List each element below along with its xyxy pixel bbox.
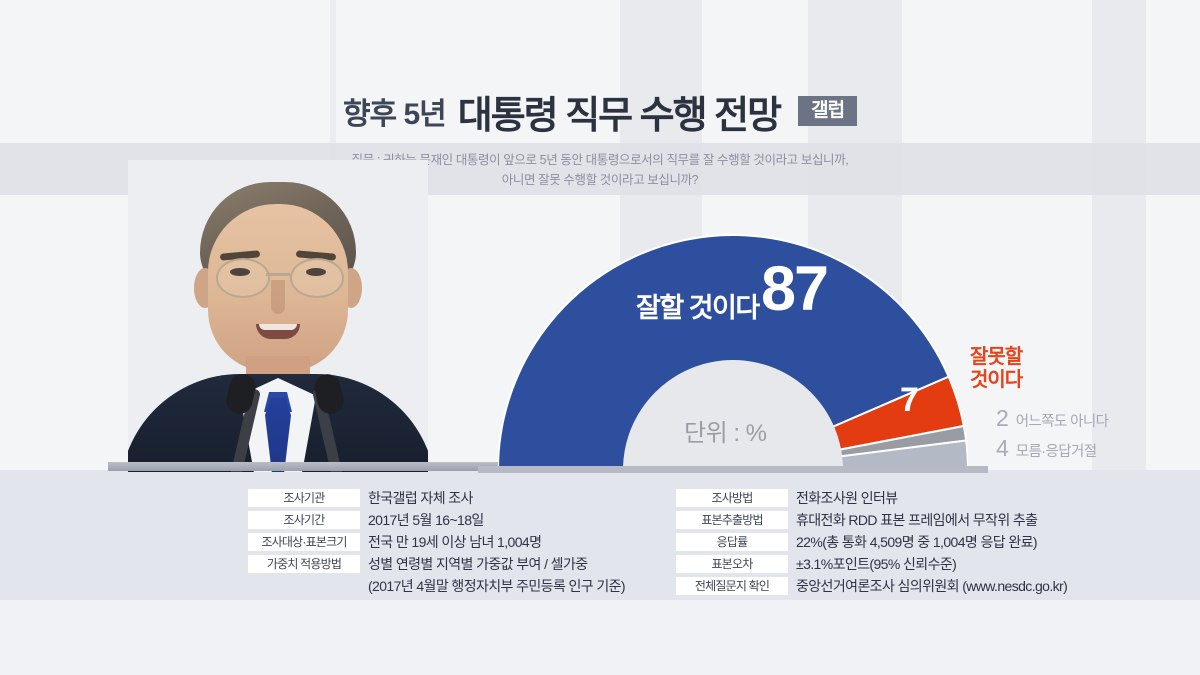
legend-value-dontknow: 4 [996, 437, 1009, 460]
methodology-table-left: 조사기관한국갤럽 자체 조사조사기간2017년 5월 16~18일조사대상·표본… [248, 489, 625, 596]
legend-item-neutral: 2 어느쪽도 아니다 [996, 407, 1108, 431]
bad-label-line-2: 것이다 [970, 369, 1022, 392]
methodology-value: 성별 연령별 지역별 가중값 부여 / 셀가중 [368, 555, 588, 574]
unit-label: 단위 : % [684, 413, 767, 448]
methodology-key: 조사대상·표본크기 [248, 533, 360, 551]
methodology-row: 조사기간2017년 5월 16~18일 [248, 511, 625, 531]
methodology-row: 조사대상·표본크기전국 만 19세 이상 남녀 1,004명 [248, 533, 625, 553]
methodology-row: 표본추출방법휴대전화 RDD 표본 프레임에서 무작위 추출 [676, 511, 1067, 531]
legend-item-dontknow: 4 모름·응답거절 [996, 437, 1096, 461]
infographic-stage: 향후 5년 대통령 직무 수행 전망 갤럽 질문 : 귀하는 문재인 대통령이 … [0, 0, 1200, 675]
methodology-value: 휴대전화 RDD 표본 프레임에서 무작위 추출 [796, 511, 1037, 530]
chart-baseline [478, 466, 988, 473]
methodology-value: 전화조사원 인터뷰 [796, 489, 898, 508]
methodology-row: 전체질문지 확인중앙선거여론조사 심의위원회 (www.nesdc.go.kr) [676, 577, 1067, 597]
methodology-row: 표본오차±3.1%포인트(95% 신뢰수준) [676, 555, 1067, 575]
methodology-key: 조사방법 [676, 489, 788, 507]
good-value: 87 [761, 258, 827, 321]
methodology-row: 가중치 적용방법성별 연령별 지역별 가중값 부여 / 셀가중 [248, 555, 625, 575]
photo-eyeglass-right [290, 258, 344, 298]
methodology-key: 가중치 적용방법 [248, 555, 360, 573]
methodology-value: 22%(총 통화 4,509명 중 1,004명 응답 완료) [796, 533, 1037, 552]
methodology-key: 표본추출방법 [676, 511, 788, 529]
photo-eyeglass-bridge [266, 273, 290, 276]
methodology-value: ±3.1%포인트(95% 신뢰수준) [796, 555, 956, 574]
bad-label: 잘못할 것이다 [970, 346, 1022, 392]
methodology-value: 전국 만 19세 이상 남녀 1,004명 [368, 533, 541, 552]
methodology-value: 2017년 5월 16~18일 [368, 511, 484, 530]
good-label: 잘할 것이다 [636, 286, 759, 325]
podium-bar [108, 462, 512, 471]
methodology-key: 전체질문지 확인 [676, 577, 788, 595]
methodology-row: 응답률22%(총 통화 4,509명 중 1,004명 응답 완료) [676, 533, 1067, 553]
page-header: 향후 5년 대통령 직무 수행 전망 갤럽 [0, 82, 1200, 140]
president-photo [128, 160, 428, 472]
page-title: 대통령 직무 수행 전망 [458, 84, 780, 139]
title-prefix: 향후 5년 [343, 89, 446, 133]
photo-eyeglass-left [216, 258, 270, 298]
methodology-value: 한국갤럽 자체 조사 [368, 489, 473, 508]
methodology-key: 조사기간 [248, 511, 360, 529]
legend-label-neutral: 어느쪽도 아니다 [1016, 410, 1109, 431]
photo-nose [271, 280, 285, 314]
methodology-row: 조사기관한국갤럽 자체 조사 [248, 489, 625, 509]
methodology-key: 조사기관 [248, 489, 360, 507]
methodology-value: 중앙선거여론조사 심의위원회 (www.nesdc.go.kr) [796, 577, 1067, 596]
methodology-key: 응답률 [676, 533, 788, 551]
methodology-key: 표본오차 [676, 555, 788, 573]
photo-teeth [259, 324, 297, 330]
methodology-continuation: (2017년 4월말 행정자치부 주민등록 인구 기준) [368, 577, 625, 596]
methodology-row: 조사방법전화조사원 인터뷰 [676, 489, 1067, 509]
footer-band-lower [0, 600, 1200, 675]
bad-label-line-1: 잘못할 [970, 346, 1022, 369]
bad-value: 7 [900, 383, 919, 417]
methodology-table-right: 조사방법전화조사원 인터뷰표본추출방법휴대전화 RDD 표본 프레임에서 무작위… [676, 489, 1067, 599]
legend-label-dontknow: 모름·응답거절 [1016, 440, 1097, 461]
brand-badge: 갤럽 [798, 96, 857, 126]
legend-value-neutral: 2 [996, 407, 1009, 430]
